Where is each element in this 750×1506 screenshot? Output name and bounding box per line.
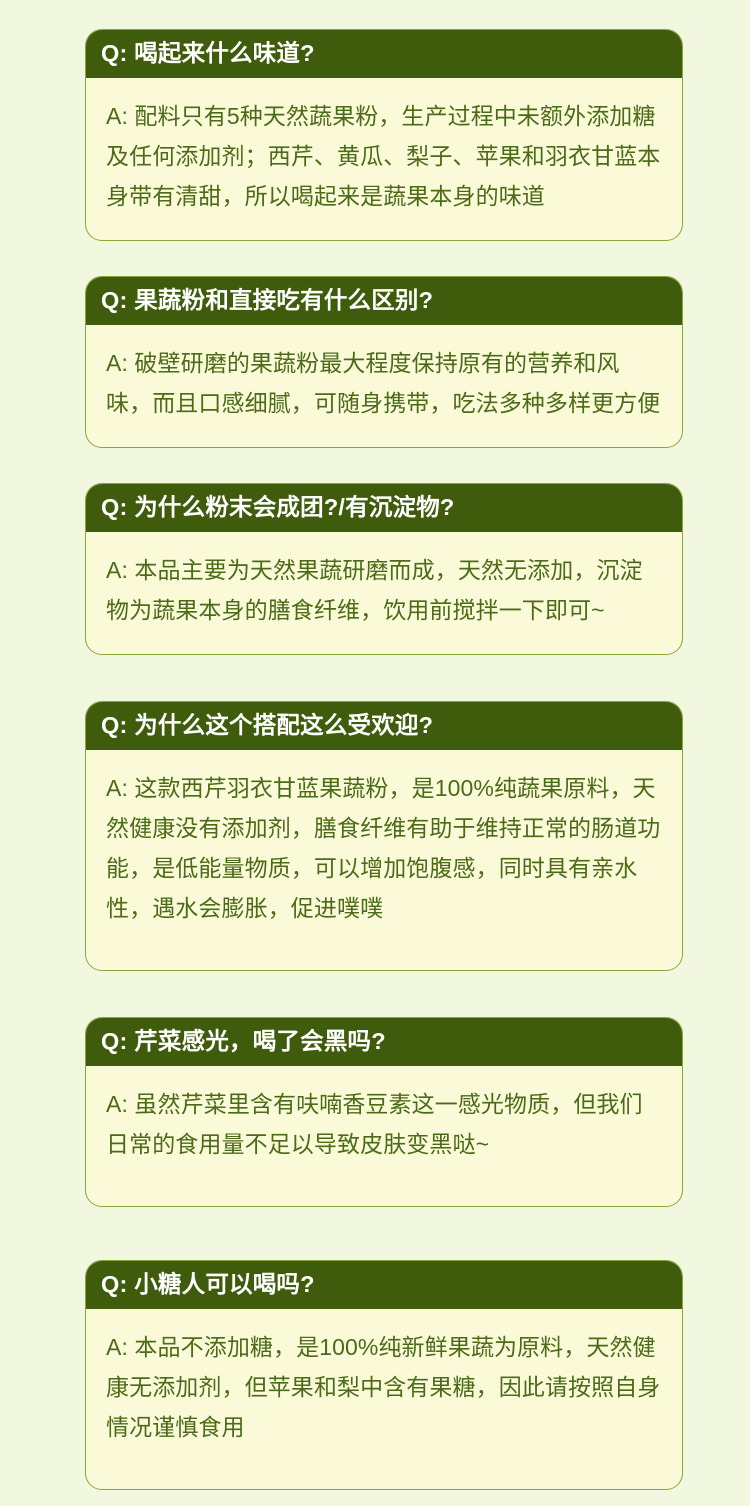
faq-question: Q: 芹菜感光，喝了会黑吗? [85,1017,683,1066]
faq-question: Q: 为什么这个搭配这么受欢迎? [85,701,683,750]
faq-card: Q: 小糖人可以喝吗? A: 本品不添加糖，是100%纯新鲜果蔬为原料，天然健康… [85,1260,683,1490]
faq-question: Q: 小糖人可以喝吗? [85,1260,683,1309]
faq-answer: A: 破壁研磨的果蔬粉最大程度保持原有的营养和风味，而且口感细腻，可随身携带，吃… [86,325,682,447]
faq-card: Q: 喝起来什么味道? A: 配料只有5种天然蔬果粉，生产过程中未额外添加糖及任… [85,29,683,241]
faq-answer: A: 本品主要为天然果蔬研磨而成，天然无添加，沉淀物为蔬果本身的膳食纤维，饮用前… [86,532,682,654]
faq-answer: A: 虽然芹菜里含有呋喃香豆素这一感光物质，但我们日常的食用量不足以导致皮肤变黑… [86,1066,682,1206]
faq-page: Q: 喝起来什么味道? A: 配料只有5种天然蔬果粉，生产过程中未额外添加糖及任… [0,0,750,1506]
faq-card: Q: 芹菜感光，喝了会黑吗? A: 虽然芹菜里含有呋喃香豆素这一感光物质，但我们… [85,1017,683,1207]
faq-card: Q: 为什么粉末会成团?/有沉淀物? A: 本品主要为天然果蔬研磨而成，天然无添… [85,483,683,655]
faq-card: Q: 为什么这个搭配这么受欢迎? A: 这款西芹羽衣甘蓝果蔬粉，是100%纯蔬果… [85,701,683,971]
faq-question: Q: 果蔬粉和直接吃有什么区别? [85,276,683,325]
faq-answer: A: 本品不添加糖，是100%纯新鲜果蔬为原料，天然健康无添加剂，但苹果和梨中含… [86,1309,682,1489]
faq-question: Q: 喝起来什么味道? [85,29,683,78]
faq-answer: A: 这款西芹羽衣甘蓝果蔬粉，是100%纯蔬果原料，天然健康没有添加剂，膳食纤维… [86,750,682,970]
faq-card: Q: 果蔬粉和直接吃有什么区别? A: 破壁研磨的果蔬粉最大程度保持原有的营养和… [85,276,683,448]
faq-answer: A: 配料只有5种天然蔬果粉，生产过程中未额外添加糖及任何添加剂；西芹、黄瓜、梨… [86,78,682,240]
faq-question: Q: 为什么粉末会成团?/有沉淀物? [85,483,683,532]
